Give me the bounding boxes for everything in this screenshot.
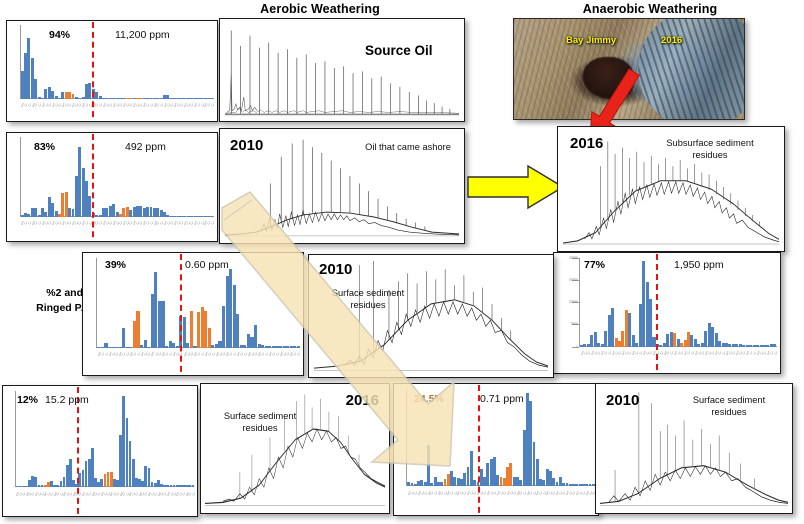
x-axis-labels: C₀₀C₀C₀C₀₀C₀C₀C₀₀C₀C₀C₀₀C₀C₀C₀₀C₀C₀C₀₀C₀… [20,218,213,240]
weathering-progression-arrow [214,190,474,490]
concentration-label-12: 15.2 ppm [45,394,89,406]
concentration-label-24-5: 0.71 ppm [480,393,524,405]
photo-location-tag: Bay Jimmy [566,35,616,46]
bar [136,311,139,348]
x-axis-labels: C₀₀C₀C₀C₀₀C₀C₀C₀₀C₀C₀C₀₀C₀C₀C₀₀C₀C₀C₀₀C₀… [20,100,213,120]
bar-chart-94: C₀₀C₀C₀C₀₀C₀C₀C₀₀C₀C₀C₀₀C₀C₀C₀₀C₀C₀C₀₀C₀… [7,21,217,121]
bar [773,344,776,347]
bar-chart-77: C₀₀C₀C₀C₀₀C₀C₀C₀₀C₀C₀C₀₀C₀C₀C₀₀C₀C₀C₀₀C₀… [554,253,780,373]
y-tick-label: 200000 [569,279,578,282]
y-tick-label: 70000 [571,323,578,326]
pah-ring-divider [77,387,79,517]
bar [122,328,125,348]
photo-boot-tread [638,18,745,120]
bar-panel-12: C₀₀C₀C₀C₀₀C₀C₀C₀₀C₀C₀C₀₀C₀C₀C₀₀C₀C₀C₀₀C₀… [2,385,198,517]
header-anaerobic-weathering: Anaerobic Weathering [510,2,790,16]
header-aerobic-weathering: Aerobic Weathering [160,2,480,16]
y-tick-label: 0 [576,345,577,348]
bar-series [580,258,777,347]
bar [161,301,164,348]
percent-label-94: 94% [49,29,70,41]
percent-label-12: 12% [17,394,38,406]
photo-year-tag: 2016 [661,35,682,46]
y-tick-label: 150000 [569,301,578,304]
concentration-label-77: 1,950 ppm [674,259,724,271]
bar [211,98,214,99]
chromatogram-note-oil-ashore: Oil that came ashore [358,141,458,153]
chromatogram-panel-subsurface-2016: 2016 Subsurface sediment residues [557,126,785,252]
x-axis-labels: C₀₀C₀C₀C₀₀C₀C₀C₀₀C₀C₀C₀₀C₀C₀C₀₀C₀C₀C₀₀C₀… [407,488,595,514]
pah-ring-divider [92,22,94,122]
pah-ring-divider [180,254,182,376]
percent-label-83: 83% [34,141,55,153]
bar [190,311,193,348]
concentration-label-94: 11,200 ppm [115,29,170,41]
bar-series [15,391,194,487]
year-label-2010-ashore: 2010 [230,137,263,154]
percent-label-77: 77% [584,259,605,271]
pah-ring-divider [656,254,658,374]
bar [192,485,195,487]
percent-label-39: 39% [105,259,126,271]
year-label-2016-subsurface: 2016 [570,135,603,152]
chromatogram-panel-surface-2010-bottom: 2010 Surface sediment residues [595,383,793,514]
bar-panel-94: C₀₀C₀C₀C₀₀C₀C₀C₀₀C₀C₀C₀₀C₀C₀C₀₀C₀C₀C₀₀C₀… [6,20,218,122]
year-label-2010-surface-bottom: 2010 [606,392,639,409]
concentration-label-83: 492 ppm [125,141,166,153]
bar-panel-77: C₀₀C₀C₀C₀₀C₀C₀C₀₀C₀C₀C₀₀C₀C₀C₀₀C₀C₀C₀₀C₀… [553,252,781,374]
y-tick-label: 250000 [569,256,578,259]
pah-ring-divider [92,134,94,242]
chromatogram-trace-source-oil [225,22,459,116]
bar-panel-83: C₀₀C₀C₀C₀₀C₀C₀C₀₀C₀C₀C₀₀C₀C₀C₀₀C₀C₀C₀₀C₀… [6,132,218,242]
chromatogram-note-surface-2010-bottom: Surface sediment residues [674,394,784,418]
chromatogram-note-subsurface: Subsurface sediment residues [650,137,770,161]
chromatogram-title-source-oil: Source Oil [365,43,433,58]
aerobic-to-anaerobic-arrow [466,163,566,211]
chromatogram-panel-source-oil: Source Oil [219,18,465,122]
x-axis-labels: C₀₀C₀C₀C₀₀C₀C₀C₀₀C₀C₀C₀₀C₀C₀C₀₀C₀C₀C₀₀C₀… [15,489,194,515]
x-axis-labels: C₀₀C₀C₀C₀₀C₀C₀C₀₀C₀C₀C₀₀C₀C₀C₀₀C₀C₀C₀₀C₀… [580,348,777,372]
